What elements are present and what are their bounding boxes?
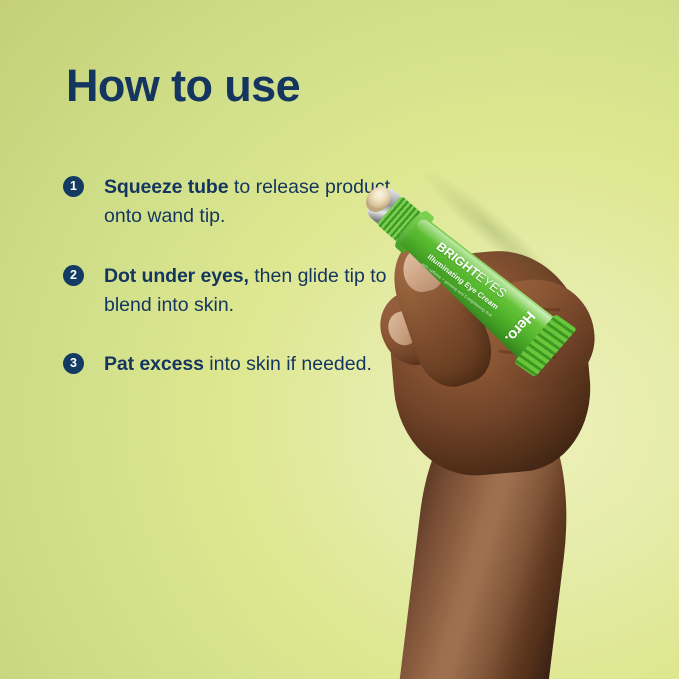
how-to-use-panel: How to use 1 Squeeze tube to release pro… [0, 0, 679, 679]
product-tube: BRIGHTEYES Illuminating Eye Cream with c… [352, 104, 632, 314]
hand-holding-product [0, 0, 679, 679]
